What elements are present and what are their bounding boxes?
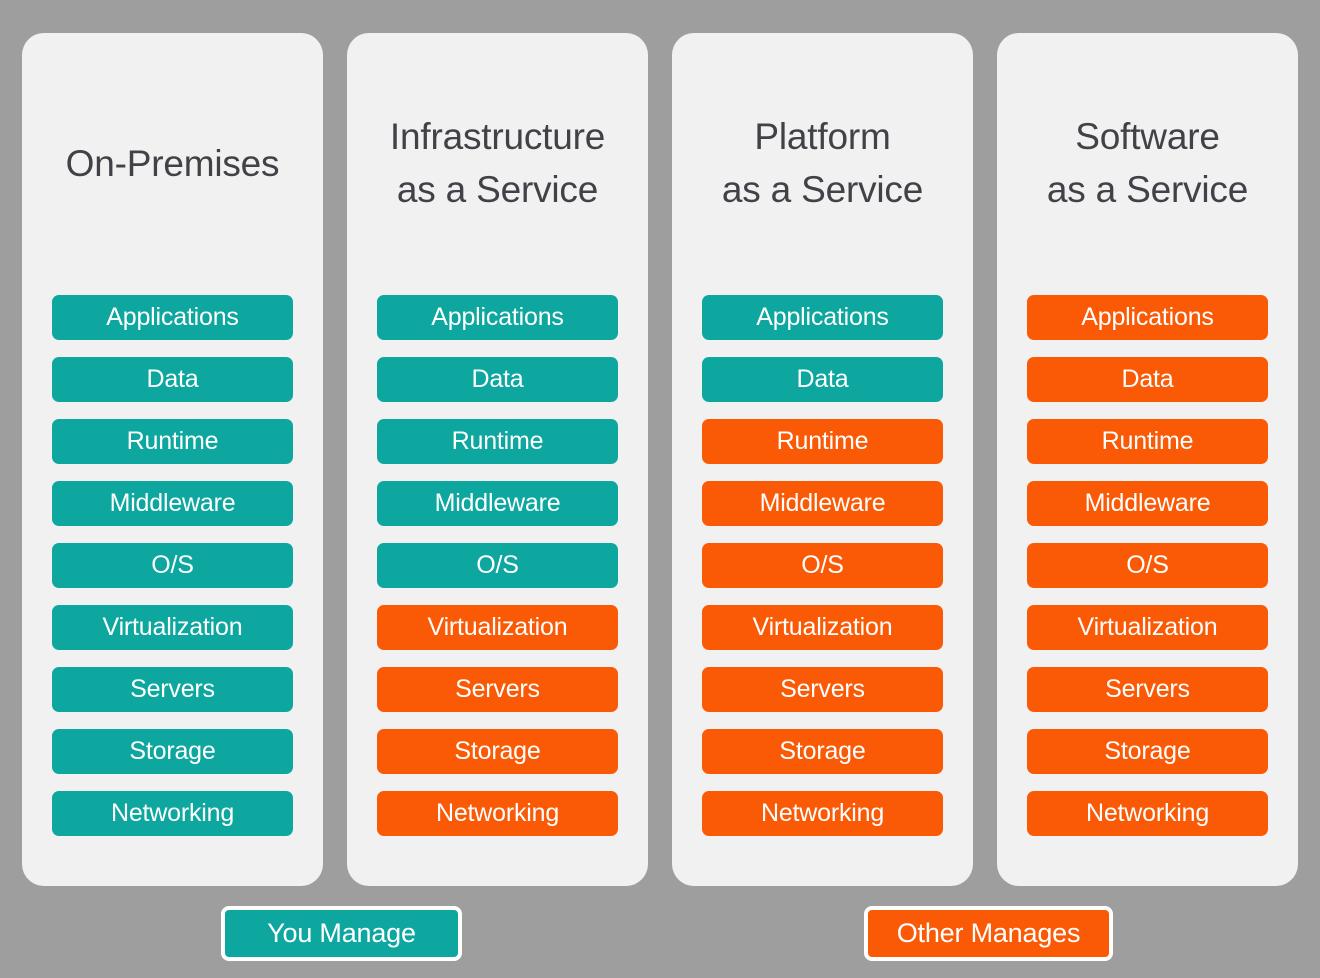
layer-label: Servers	[130, 677, 215, 702]
layer-label: Virtualization	[1078, 615, 1218, 640]
card-title-line2: as a Service	[1047, 169, 1248, 210]
card-title-area: Infrastructureas a Service	[377, 33, 618, 295]
layer-runtime: Runtime	[1027, 419, 1268, 464]
responsibility-stack: ApplicationsDataRuntimeMiddlewareO/SVirt…	[52, 295, 293, 865]
layer-label: Virtualization	[103, 615, 243, 640]
layer-label: Servers	[455, 677, 540, 702]
layer-label: Data	[1121, 367, 1173, 392]
layer-label: Data	[146, 367, 198, 392]
card-title-line1: Platform	[754, 116, 890, 157]
layer-o-s: O/S	[377, 543, 618, 588]
card-title-area: Platformas a Service	[702, 33, 943, 295]
layer-label: Runtime	[1102, 429, 1194, 454]
layer-virtualization: Virtualization	[377, 605, 618, 650]
layer-virtualization: Virtualization	[702, 605, 943, 650]
layer-o-s: O/S	[702, 543, 943, 588]
layer-middleware: Middleware	[52, 481, 293, 526]
responsibility-stack: ApplicationsDataRuntimeMiddlewareO/SVirt…	[377, 295, 618, 865]
layer-label: Middleware	[760, 491, 886, 516]
layer-label: Applications	[106, 305, 238, 330]
layer-storage: Storage	[377, 729, 618, 774]
layer-data: Data	[1027, 357, 1268, 402]
card-title-platform: Platformas a Service	[702, 111, 943, 216]
service-model-card-infrastructure: Infrastructureas a ServiceApplicationsDa…	[347, 33, 648, 886]
layer-label: Servers	[780, 677, 865, 702]
layer-label: Middleware	[435, 491, 561, 516]
service-model-columns: On-PremisesApplicationsDataRuntimeMiddle…	[22, 33, 1298, 886]
card-title-area: Softwareas a Service	[1027, 33, 1268, 295]
legend-you-manage: You Manage	[221, 906, 462, 961]
layer-label: Runtime	[452, 429, 544, 454]
layer-label: Storage	[779, 739, 865, 764]
card-title-line2: as a Service	[722, 169, 923, 210]
layer-applications: Applications	[1027, 295, 1268, 340]
layer-runtime: Runtime	[377, 419, 618, 464]
card-title-line1: Infrastructure	[390, 116, 605, 157]
layer-label: Storage	[454, 739, 540, 764]
layer-label: Applications	[756, 305, 888, 330]
layer-data: Data	[377, 357, 618, 402]
card-title-area: On-Premises	[52, 33, 293, 295]
card-title-on-premises: On-Premises	[52, 138, 293, 191]
layer-storage: Storage	[702, 729, 943, 774]
layer-servers: Servers	[1027, 667, 1268, 712]
layer-label: Data	[796, 367, 848, 392]
layer-networking: Networking	[1027, 791, 1268, 836]
layer-applications: Applications	[377, 295, 618, 340]
responsibility-stack: ApplicationsDataRuntimeMiddlewareO/SVirt…	[1027, 295, 1268, 865]
legend-other-manages-label: Other Manages	[897, 920, 1081, 947]
service-model-card-software: Softwareas a ServiceApplicationsDataRunt…	[997, 33, 1298, 886]
service-model-card-platform: Platformas a ServiceApplicationsDataRunt…	[672, 33, 973, 886]
card-title-line2: as a Service	[397, 169, 598, 210]
card-title-infrastructure: Infrastructureas a Service	[377, 111, 618, 216]
layer-networking: Networking	[52, 791, 293, 836]
layer-virtualization: Virtualization	[1027, 605, 1268, 650]
layer-networking: Networking	[702, 791, 943, 836]
layer-middleware: Middleware	[377, 481, 618, 526]
responsibility-stack: ApplicationsDataRuntimeMiddlewareO/SVirt…	[702, 295, 943, 865]
layer-middleware: Middleware	[1027, 481, 1268, 526]
layer-label: Networking	[1086, 801, 1209, 826]
diagram-canvas: On-PremisesApplicationsDataRuntimeMiddle…	[0, 0, 1320, 978]
layer-storage: Storage	[52, 729, 293, 774]
service-model-card-on-premises: On-PremisesApplicationsDataRuntimeMiddle…	[22, 33, 323, 886]
layer-virtualization: Virtualization	[52, 605, 293, 650]
layer-label: Applications	[1081, 305, 1213, 330]
layer-data: Data	[702, 357, 943, 402]
layer-servers: Servers	[377, 667, 618, 712]
layer-label: Middleware	[110, 491, 236, 516]
layer-applications: Applications	[52, 295, 293, 340]
layer-o-s: O/S	[52, 543, 293, 588]
legend-other-manages: Other Manages	[864, 906, 1113, 961]
layer-label: O/S	[1126, 553, 1168, 578]
layer-label: Runtime	[127, 429, 219, 454]
legend-you-manage-label: You Manage	[267, 920, 416, 947]
card-title-line1: Software	[1075, 116, 1219, 157]
layer-applications: Applications	[702, 295, 943, 340]
layer-label: O/S	[151, 553, 193, 578]
card-title-line1: On-Premises	[66, 143, 280, 184]
layer-label: Networking	[111, 801, 234, 826]
layer-storage: Storage	[1027, 729, 1268, 774]
layer-data: Data	[52, 357, 293, 402]
layer-label: O/S	[801, 553, 843, 578]
layer-label: Virtualization	[753, 615, 893, 640]
legend: You Manage Other Manages	[0, 906, 1320, 978]
layer-servers: Servers	[52, 667, 293, 712]
layer-label: Virtualization	[428, 615, 568, 640]
layer-label: Servers	[1105, 677, 1190, 702]
layer-label: O/S	[476, 553, 518, 578]
layer-networking: Networking	[377, 791, 618, 836]
layer-runtime: Runtime	[52, 419, 293, 464]
layer-label: Runtime	[777, 429, 869, 454]
layer-label: Applications	[431, 305, 563, 330]
card-title-software: Softwareas a Service	[1027, 111, 1268, 216]
layer-label: Networking	[761, 801, 884, 826]
layer-label: Storage	[1104, 739, 1190, 764]
layer-label: Storage	[129, 739, 215, 764]
layer-servers: Servers	[702, 667, 943, 712]
layer-o-s: O/S	[1027, 543, 1268, 588]
layer-label: Networking	[436, 801, 559, 826]
layer-middleware: Middleware	[702, 481, 943, 526]
layer-label: Data	[471, 367, 523, 392]
layer-runtime: Runtime	[702, 419, 943, 464]
layer-label: Middleware	[1085, 491, 1211, 516]
